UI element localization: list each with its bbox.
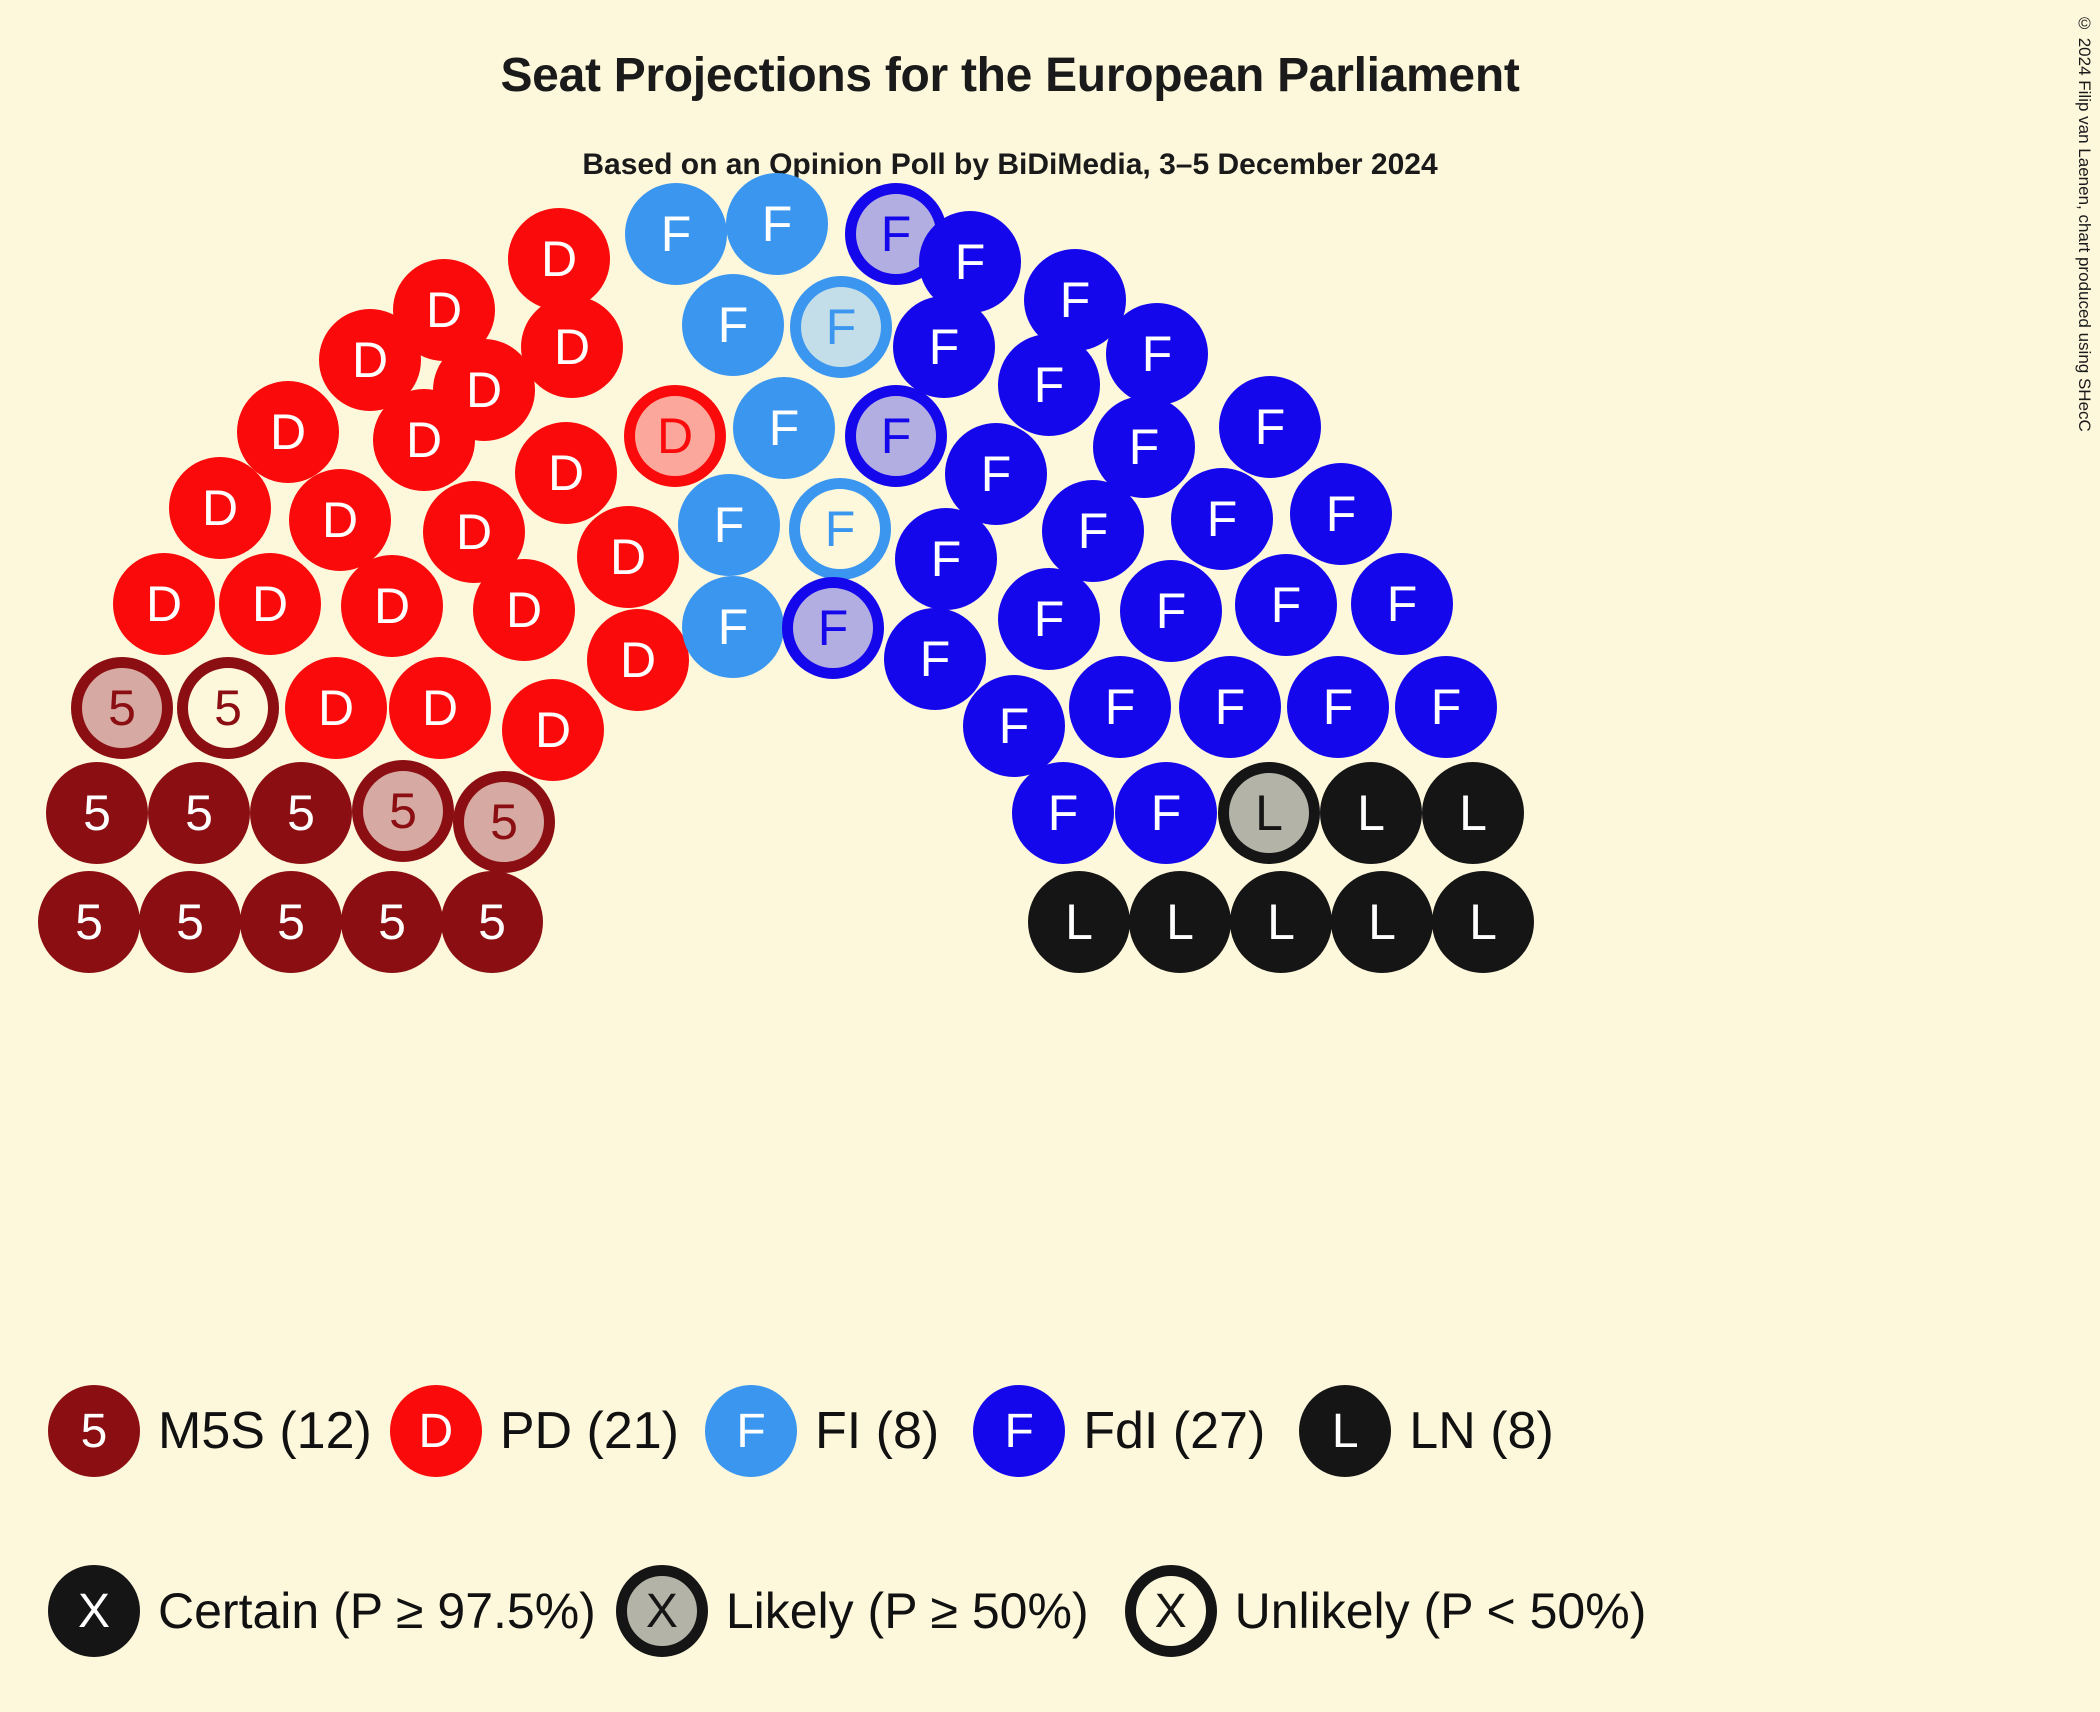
seat-ln-certain: L (1432, 871, 1534, 973)
seat-fdi-certain: F (963, 675, 1065, 777)
seat-fdi-certain: F (1290, 463, 1392, 565)
seat-fdi-certain: F (1012, 762, 1114, 864)
legend-label-party: LN (8) (1409, 1401, 1553, 1461)
seat-fi-certain: F (682, 576, 784, 678)
seat-fdi-certain: F (998, 568, 1100, 670)
seat-m5s-certain: 5 (148, 762, 250, 864)
seat-ln-certain: L (1028, 871, 1130, 973)
seat-pd-certain: D (113, 553, 215, 655)
seat-pd-certain: D (587, 609, 689, 711)
seat-m5s-certain: 5 (441, 871, 543, 973)
seat-m5s-likely: 5 (453, 771, 555, 873)
legend-swatch-pd-icon: D (390, 1385, 482, 1477)
seat-pd-certain: D (508, 208, 610, 310)
legend-label-probability: Certain (P ≥ 97.5%) (158, 1582, 596, 1640)
seat-m5s-certain: 5 (46, 762, 148, 864)
seat-fdi-certain: F (1106, 303, 1208, 405)
seat-ln-certain: L (1331, 871, 1433, 973)
legend-item-probability: XUnlikely (P < 50%) (1125, 1565, 1647, 1657)
seat-fdi-certain: F (1219, 376, 1321, 478)
seat-pd-certain: D (502, 679, 604, 781)
seat-ln-certain: L (1129, 871, 1231, 973)
seat-fdi-certain: F (895, 508, 997, 610)
seat-pd-certain: D (341, 555, 443, 657)
seat-fdi-certain: F (1287, 656, 1389, 758)
seat-pd-certain: D (285, 657, 387, 759)
seat-pd-certain: D (389, 657, 491, 759)
seat-fdi-certain: F (1351, 553, 1453, 655)
seat-pd-certain: D (433, 339, 535, 441)
legend-swatch-fdi-icon: F (973, 1385, 1065, 1477)
seat-fi-certain: F (678, 474, 780, 576)
legend-swatch-ln-icon: L (1299, 1385, 1391, 1477)
seat-pd-certain: D (289, 469, 391, 571)
seat-ln-likely: L (1218, 762, 1320, 864)
legend-label-probability: Likely (P ≥ 50%) (726, 1582, 1089, 1640)
seat-m5s-certain: 5 (341, 871, 443, 973)
seat-ln-certain: L (1320, 762, 1422, 864)
seat-fdi-certain: F (884, 608, 986, 710)
seat-fi-certain: F (733, 377, 835, 479)
party-legend: 5M5S (12)DPD (21)FFI (8)FFdI (27)LLN (8) (48, 1385, 2048, 1477)
seat-pd-likely: D (624, 385, 726, 487)
chart-canvas: Seat Projections for the European Parlia… (0, 0, 2100, 1712)
seat-fdi-certain: F (1395, 656, 1497, 758)
legend-label-probability: Unlikely (P < 50%) (1235, 1582, 1647, 1640)
seat-m5s-likely: 5 (71, 657, 173, 759)
legend-swatch-m5s-icon: 5 (48, 1385, 140, 1477)
seat-pd-certain: D (515, 422, 617, 524)
legend-item-party: 5M5S (12) (48, 1385, 372, 1477)
seat-fi-unlikely: F (789, 478, 891, 580)
legend-item-party: DPD (21) (390, 1385, 679, 1477)
legend-swatch-fi-icon: F (705, 1385, 797, 1477)
legend-swatch-certain-icon: X (48, 1565, 140, 1657)
legend-item-probability: XCertain (P ≥ 97.5%) (48, 1565, 596, 1657)
seat-pd-certain: D (219, 553, 321, 655)
seat-fdi-certain: F (1235, 554, 1337, 656)
seat-fdi-certain: F (1179, 656, 1281, 758)
seat-fdi-certain: F (1115, 762, 1217, 864)
seat-pd-certain: D (577, 506, 679, 608)
legend-label-party: M5S (12) (158, 1401, 372, 1461)
seat-m5s-certain: 5 (250, 762, 352, 864)
legend-swatch-likely-icon: X (616, 1565, 708, 1657)
legend-item-party: FFdI (27) (973, 1385, 1265, 1477)
seat-pd-certain: D (169, 457, 271, 559)
seat-pd-certain: D (473, 559, 575, 661)
seat-fdi-certain: F (1171, 468, 1273, 570)
seat-fi-certain: F (682, 274, 784, 376)
seat-ln-certain: L (1422, 762, 1524, 864)
probability-legend: XCertain (P ≥ 97.5%)XLikely (P ≥ 50%)XUn… (48, 1565, 2048, 1657)
seat-fdi-likely: F (782, 577, 884, 679)
seat-m5s-certain: 5 (240, 871, 342, 973)
legend-item-probability: XLikely (P ≥ 50%) (616, 1565, 1089, 1657)
seat-fdi-certain: F (1069, 656, 1171, 758)
legend-item-party: LLN (8) (1299, 1385, 1553, 1477)
seat-fi-likely: F (790, 276, 892, 378)
seat-m5s-certain: 5 (139, 871, 241, 973)
seat-ln-certain: L (1230, 871, 1332, 973)
seat-m5s-unlikely: 5 (177, 657, 279, 759)
seat-pd-certain: D (237, 381, 339, 483)
legend-label-party: FI (8) (815, 1401, 939, 1461)
seat-fdi-likely: F (845, 385, 947, 487)
seat-fi-certain: F (726, 173, 828, 275)
seat-m5s-certain: 5 (38, 871, 140, 973)
seat-fdi-certain: F (998, 334, 1100, 436)
seat-fdi-certain: F (1120, 560, 1222, 662)
seat-fi-certain: F (625, 183, 727, 285)
seat-m5s-likely: 5 (352, 760, 454, 862)
legend-swatch-unlikely-icon: X (1125, 1565, 1217, 1657)
legend-item-party: FFI (8) (705, 1385, 939, 1477)
legend-label-party: FdI (27) (1083, 1401, 1265, 1461)
seat-fdi-certain: F (893, 296, 995, 398)
legend-label-party: PD (21) (500, 1401, 679, 1461)
seat-pd-certain: D (521, 296, 623, 398)
seat-fdi-certain: F (1042, 480, 1144, 582)
